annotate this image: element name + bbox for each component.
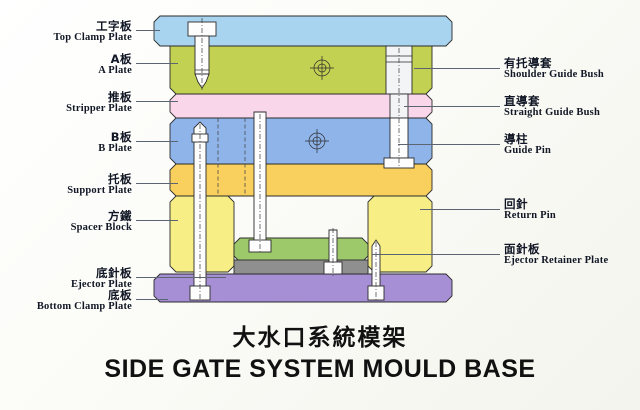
label-top-clamp-plate: 工字板 Top Clamp Plate — [6, 20, 132, 43]
label-en: A Plate — [6, 65, 132, 76]
label-cn: B板 — [6, 131, 132, 143]
label-en: Shoulder Guide Bush — [504, 69, 638, 80]
label-a-plate: A板 A Plate — [6, 53, 132, 76]
leader-b-plate — [136, 141, 178, 142]
label-ejector-retainer-plate: 面針板 Ejector Retainer Plate — [504, 243, 638, 266]
label-cn: A板 — [6, 53, 132, 65]
label-support-plate: 托板 Support Plate — [6, 173, 132, 196]
label-ejector-plate: 底針板 Ejector Plate — [6, 267, 132, 290]
leader-spacer-block — [136, 220, 178, 221]
leader-ejector-plate — [136, 277, 226, 278]
label-en: Top Clamp Plate — [6, 32, 132, 43]
leader-a-plate — [136, 63, 178, 64]
leader-bottom-clamp-plate — [136, 299, 168, 300]
label-straight-guide-bush: 直導套 Straight Guide Bush — [504, 95, 638, 118]
label-stripper-plate: 推板 Stripper Plate — [6, 91, 132, 114]
label-en: Stripper Plate — [6, 103, 132, 114]
label-shoulder-guide-bush: 有托導套 Shoulder Guide Bush — [504, 57, 638, 80]
leader-return-pin — [420, 209, 500, 210]
label-cn: 導柱 — [504, 133, 638, 145]
label-cn: 推板 — [6, 91, 132, 103]
label-cn: 有托導套 — [504, 57, 638, 69]
leader-stripper-plate — [136, 101, 178, 102]
label-en: Straight Guide Bush — [504, 107, 638, 118]
label-cn: 直導套 — [504, 95, 638, 107]
leader-ejector-retainer-plate — [372, 254, 500, 255]
plate-ejector-body — [234, 260, 368, 274]
label-en: Ejector Retainer Plate — [504, 255, 638, 266]
label-cn: 底板 — [6, 289, 132, 301]
label-en: Support Plate — [6, 185, 132, 196]
label-bottom-clamp-plate: 底板 Bottom Clamp Plate — [6, 289, 132, 312]
label-cn: 工字板 — [6, 20, 132, 32]
label-cn: 底針板 — [6, 267, 132, 279]
label-en: Guide Pin — [504, 145, 638, 156]
label-cn: 方鐵 — [6, 210, 132, 222]
label-return-pin: 回針 Return Pin — [504, 198, 638, 221]
label-cn: 面針板 — [504, 243, 638, 255]
label-spacer-block: 方鐵 Spacer Block — [6, 210, 132, 233]
label-guide-pin: 導柱 Guide Pin — [504, 133, 638, 156]
leader-straight-guide-bush — [404, 106, 500, 107]
label-b-plate: B板 B Plate — [6, 131, 132, 154]
diagram-canvas: 工字板 Top Clamp Plate A板 A Plate 推板 Stripp… — [0, 0, 640, 410]
mould-base-assembly — [150, 8, 490, 320]
label-en: B Plate — [6, 143, 132, 154]
plate-support — [170, 164, 432, 196]
label-en: Bottom Clamp Plate — [6, 301, 132, 312]
title-block: 大水口系統模架 SIDE GATE SYSTEM MOULD BASE — [0, 318, 640, 384]
title-chinese: 大水口系統模架 — [0, 318, 640, 352]
title-english: SIDE GATE SYSTEM MOULD BASE — [0, 355, 640, 384]
leader-guide-pin — [398, 144, 500, 145]
leader-top-clamp-plate — [136, 30, 160, 31]
label-en: Spacer Block — [6, 222, 132, 233]
label-cn: 托板 — [6, 173, 132, 185]
label-en: Return Pin — [504, 210, 638, 221]
leader-support-plate — [136, 183, 178, 184]
label-cn: 回針 — [504, 198, 638, 210]
leader-shoulder-guide-bush — [414, 68, 500, 69]
